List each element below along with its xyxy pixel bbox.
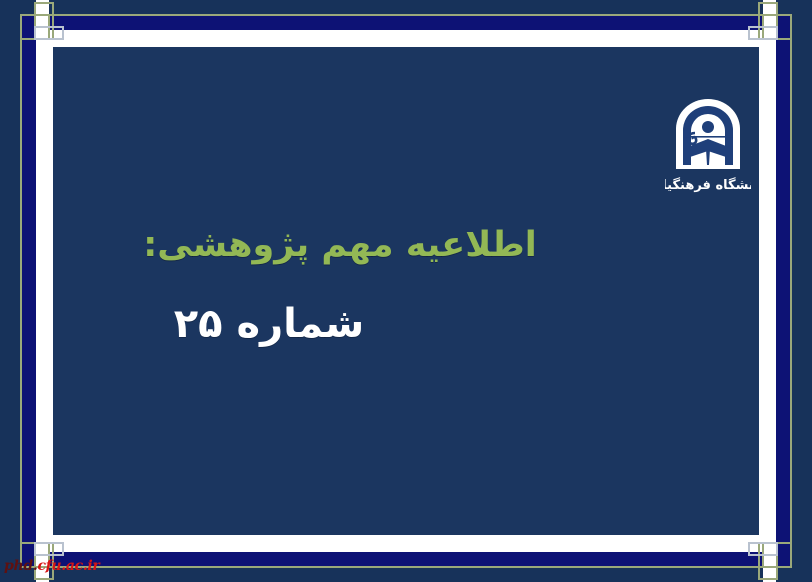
watermark-prefix: phd.: [4, 558, 37, 574]
university-logo: دانشگاه فرهنگیان: [665, 99, 751, 197]
university-wordmark: دانشگاه فرهنگیان: [665, 170, 751, 196]
content-panel: [53, 47, 759, 535]
watermark-domain: cfu.ac.ir: [37, 558, 99, 574]
university-emblem-icon: [670, 99, 746, 169]
announcement-slide: دانشگاه فرهنگیان اطلاعیه مهم پژوهشی: شما…: [0, 0, 812, 582]
site-watermark: phd.cfu.ac.ir: [4, 558, 100, 574]
headline-primary: اطلاعیه مهم پژوهشی:: [50, 224, 750, 266]
headline-secondary: شماره ۲۵: [50, 300, 750, 348]
university-wordmark-text: دانشگاه فرهنگیان: [665, 177, 751, 193]
